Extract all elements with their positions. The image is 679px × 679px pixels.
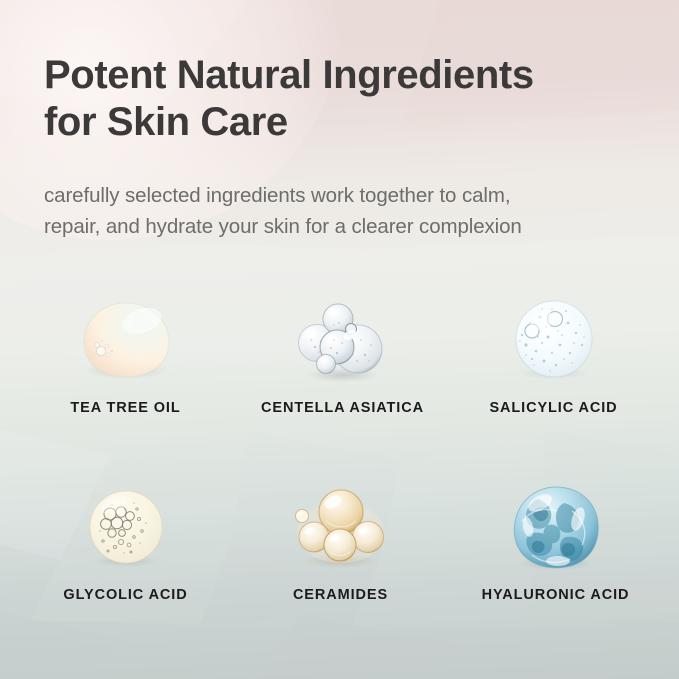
ingredient-card-hyaluronic-acid[interactable]: HYALURONIC ACID: [442, 481, 647, 603]
ingredient-row-1: TEA TREE OIL: [32, 296, 647, 416]
clear-bubble-cluster-icon: [283, 295, 403, 387]
ingredient-label: CERAMIDES: [293, 587, 388, 603]
ingredient-grid: TEA TREE OIL: [32, 296, 647, 603]
page-subtitle: carefully selected ingredients work toge…: [44, 180, 644, 242]
ingredient-label: SALICYLIC ACID: [489, 400, 617, 416]
golden-bubble-cluster-icon: [281, 481, 401, 573]
ingredient-row-2: GLYCOLIC ACID: [32, 481, 647, 603]
ingredient-card-tea-tree-oil[interactable]: TEA TREE OIL: [32, 296, 237, 416]
ingredient-label: HYALURONIC ACID: [482, 587, 630, 603]
ingredient-card-glycolic-acid[interactable]: GLYCOLIC ACID: [32, 481, 237, 603]
page-title: Potent Natural Ingredients for Skin Care: [44, 52, 644, 146]
speckled-droplet-icon: [494, 293, 614, 385]
ingredient-card-centella-asiatica[interactable]: CENTELLA ASIATICA: [237, 296, 442, 416]
ingredient-card-ceramides[interactable]: CERAMIDES: [237, 481, 442, 603]
ingredient-label: TEA TREE OIL: [70, 400, 180, 416]
ingredient-label: GLYCOLIC ACID: [63, 587, 187, 603]
page-header: Potent Natural Ingredients for Skin Care: [44, 52, 644, 146]
cream-circle-icon: [66, 481, 186, 573]
ingredient-card-salicylic-acid[interactable]: SALICYLIC ACID: [442, 296, 647, 416]
cream-droplet-icon: [66, 294, 186, 386]
ingredient-poster: Potent Natural Ingredients for Skin Care…: [0, 0, 679, 679]
ingredient-label: CENTELLA ASIATICA: [261, 400, 424, 416]
blue-gel-droplet-icon: [496, 481, 616, 573]
